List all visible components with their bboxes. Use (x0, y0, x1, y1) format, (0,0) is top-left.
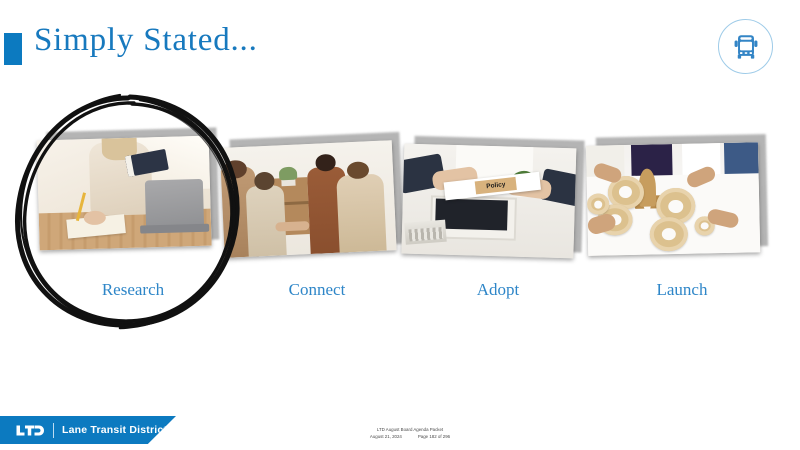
photo-card-research[interactable] (36, 126, 214, 251)
footer-divider (53, 423, 54, 438)
footer-org-name: Lane Transit District (62, 424, 167, 436)
process-steps: Research Connect (0, 128, 800, 313)
ltd-logo (16, 424, 44, 437)
page-title: Simply Stated... (34, 22, 258, 59)
step-label-connect: Connect (222, 280, 412, 300)
photo-card-launch[interactable] (586, 132, 763, 256)
photo-card-connect[interactable] (219, 130, 399, 258)
step-label-adopt: Adopt (403, 280, 593, 300)
document-footer: LTD August Board Agenda Packet August 21… (320, 427, 500, 440)
document-footer-page: Page 182 of 296 (418, 434, 450, 441)
bus-badge (718, 19, 773, 74)
photo-launch (586, 142, 760, 256)
step-label-launch: Launch (587, 280, 777, 300)
policy-plate-text: Policy (486, 181, 506, 190)
photo-connect (220, 140, 397, 258)
slide-canvas: Simply Stated... (0, 0, 800, 450)
step-launch[interactable]: Launch (587, 134, 777, 319)
photo-card-adopt[interactable]: Policy (401, 134, 579, 259)
bus-icon (731, 32, 761, 62)
step-adopt[interactable]: Policy Adopt (403, 136, 593, 321)
footer-banner: Lane Transit District (0, 416, 176, 444)
photo-adopt: Policy (401, 144, 576, 259)
photo-research (37, 136, 212, 251)
step-connect[interactable]: Connect (222, 134, 412, 319)
step-research[interactable]: Research (38, 128, 228, 313)
step-label-research: Research (38, 280, 228, 300)
title-accent-bar (4, 33, 22, 65)
document-footer-date: August 21, 2024 (370, 434, 402, 441)
ltd-logo-icon (16, 424, 44, 437)
